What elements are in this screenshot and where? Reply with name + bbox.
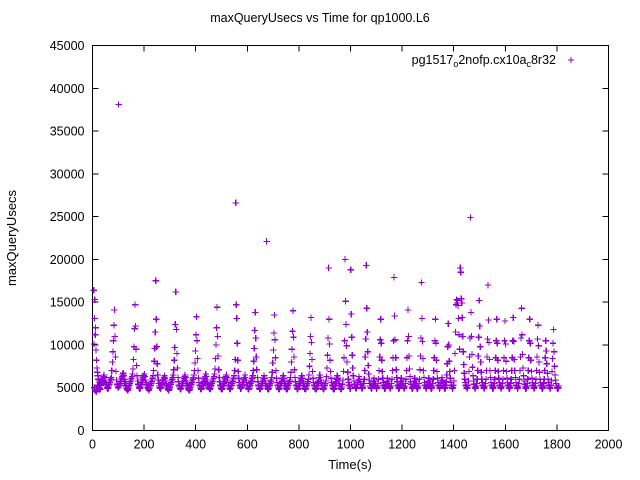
y-tick-label: 10000 xyxy=(50,338,85,352)
chart-canvas: maxQueryUsecs vs Time for qp1000.L6 0500… xyxy=(0,0,640,480)
y-tick-label: 30000 xyxy=(50,167,85,181)
y-tick-label: 5000 xyxy=(57,381,85,395)
x-tick-label: 1800 xyxy=(543,438,571,452)
x-tick-label: 1600 xyxy=(491,438,519,452)
y-tick-label: 20000 xyxy=(50,253,85,267)
chart-title: maxQueryUsecs vs Time for qp1000.L6 xyxy=(210,11,430,25)
chart-legend: pg1517o2nofp.cx10ac8r32 xyxy=(412,53,575,69)
legend-text-part: 2nofp.cx10a xyxy=(458,53,526,67)
legend-entry-label: pg1517o2nofp.cx10ac8r32 xyxy=(412,53,556,69)
y-tick-label: 25000 xyxy=(50,210,85,224)
x-axis-title: Time(s) xyxy=(328,457,372,472)
x-tick-label: 600 xyxy=(237,438,258,452)
y-tick-label: 45000 xyxy=(50,39,85,53)
x-tick-label: 0 xyxy=(89,438,96,452)
y-tick-label: 15000 xyxy=(50,296,85,310)
x-tick-label: 1400 xyxy=(440,438,468,452)
legend-text-part: pg1517 xyxy=(412,53,454,67)
scatter-plot-figure: maxQueryUsecs vs Time for qp1000.L6 0500… xyxy=(0,0,640,480)
y-tick-label: 0 xyxy=(78,424,85,438)
legend-text-part: 8r32 xyxy=(531,53,556,67)
x-tick-label: 1000 xyxy=(337,438,365,452)
x-tick-label: 200 xyxy=(134,438,155,452)
y-tick-label: 35000 xyxy=(50,125,85,139)
x-tick-label: 1200 xyxy=(388,438,416,452)
chart-background xyxy=(0,0,640,480)
y-axis-title: maxQueryUsecs xyxy=(4,189,19,286)
x-tick-label: 2000 xyxy=(595,438,623,452)
y-tick-label: 40000 xyxy=(50,82,85,96)
x-tick-label: 800 xyxy=(288,438,309,452)
x-tick-label: 400 xyxy=(185,438,206,452)
